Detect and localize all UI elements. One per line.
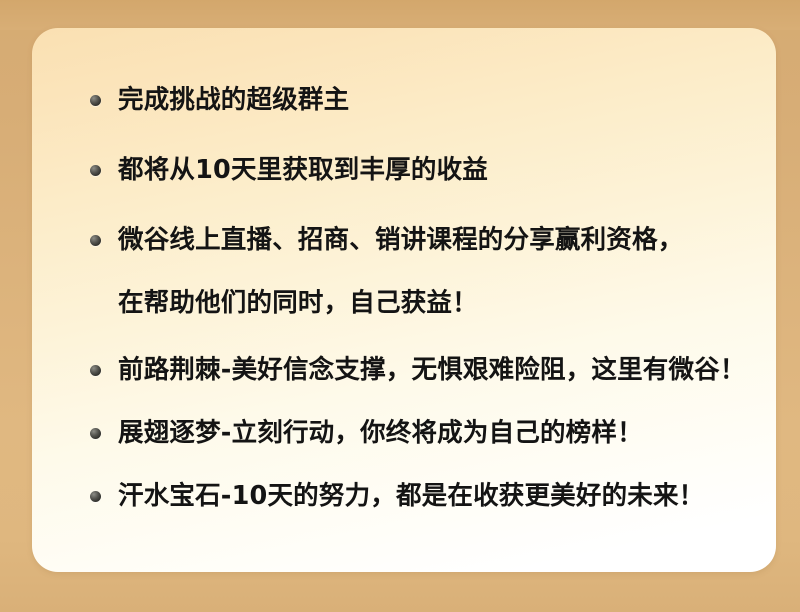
content-card: 完成挑战的超级群主 都将从10天里获取到丰厚的收益 微谷线上直播、招商、销讲课程… bbox=[32, 28, 776, 572]
spacer bbox=[90, 391, 752, 413]
benefits-list: 完成挑战的超级群主 都将从10天里获取到丰厚的收益 微谷线上直播、招商、销讲课程… bbox=[90, 80, 752, 517]
list-item-text: 都将从10天里获取到丰厚的收益 bbox=[118, 150, 752, 191]
list-item: 前路荆棘-美好信念支撑，无惧艰难险阻，这里有微谷！ bbox=[90, 350, 752, 391]
list-item-text: 展翅逐梦-立刻行动，你终将成为自己的榜样！ bbox=[118, 413, 752, 454]
list-item-text: 前路荆棘-美好信念支撑，无惧艰难险阻，这里有微谷！ bbox=[118, 350, 752, 391]
list-item: 微谷线上直播、招商、销讲课程的分享赢利资格， bbox=[90, 220, 752, 261]
bullet-dot-icon bbox=[90, 350, 118, 391]
bullet-dot-icon bbox=[90, 80, 118, 121]
spacer bbox=[90, 191, 752, 220]
bullet-dot-icon bbox=[90, 413, 118, 454]
list-item: 汗水宝石-10天的努力，都是在收获更美好的未来！ bbox=[90, 476, 752, 517]
spacer bbox=[90, 324, 752, 350]
bullet-dot-icon bbox=[90, 476, 118, 517]
list-item-text: 微谷线上直播、招商、销讲课程的分享赢利资格， bbox=[118, 220, 752, 261]
list-item: 完成挑战的超级群主 bbox=[90, 80, 752, 121]
bullet-dot-icon bbox=[90, 150, 118, 191]
list-item: 都将从10天里获取到丰厚的收益 bbox=[90, 150, 752, 191]
spacer bbox=[90, 454, 752, 476]
list-item-text: 汗水宝石-10天的努力，都是在收获更美好的未来！ bbox=[118, 476, 752, 517]
list-item-text: 完成挑战的超级群主 bbox=[118, 80, 752, 121]
list-item-text: 在帮助他们的同时，自己获益！ bbox=[118, 283, 752, 324]
bullet-dot-icon bbox=[90, 220, 118, 261]
spacer bbox=[90, 261, 752, 283]
list-item: 展翅逐梦-立刻行动，你终将成为自己的榜样！ bbox=[90, 413, 752, 454]
list-item-continuation: 在帮助他们的同时，自己获益！ bbox=[90, 283, 752, 324]
bullet-placeholder bbox=[90, 283, 118, 324]
spacer bbox=[90, 121, 752, 150]
screen-root: 完成挑战的超级群主 都将从10天里获取到丰厚的收益 微谷线上直播、招商、销讲课程… bbox=[0, 0, 800, 612]
